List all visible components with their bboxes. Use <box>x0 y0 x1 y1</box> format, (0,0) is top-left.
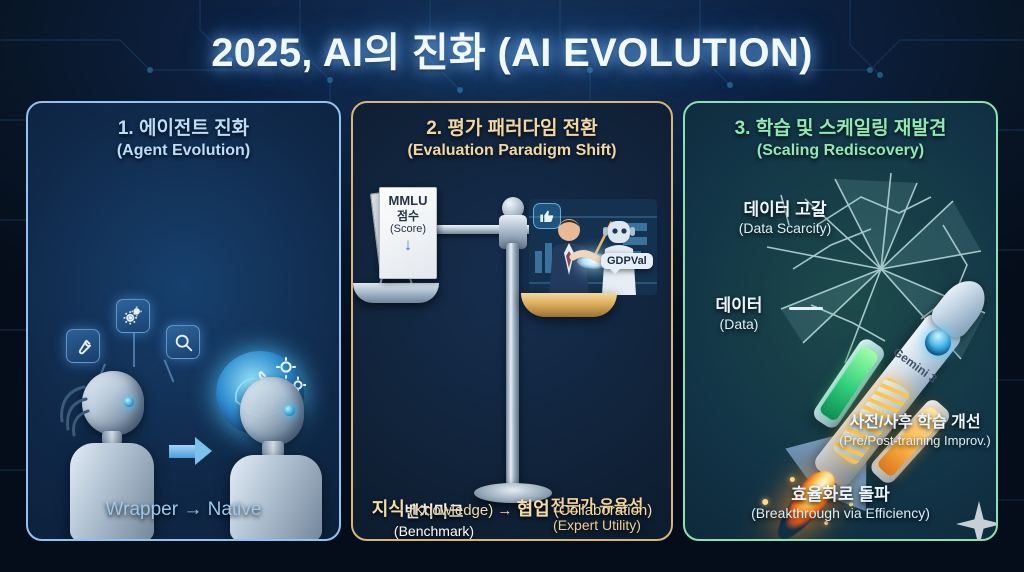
gears-icon <box>116 299 150 333</box>
wrench-icon <box>66 329 100 363</box>
paper-line-mmlu: MMLU <box>389 193 428 209</box>
evolution-arrow-icon <box>169 437 212 465</box>
panel-1-heading-ko: 1. 에이전트 진화 <box>28 117 339 141</box>
label-data-scarcity: 데이터 고갈 (Data Scarcity) <box>705 199 865 238</box>
panel-1-heading: 1. 에이전트 진화 (Agent Evolution) <box>28 117 339 162</box>
label-data-scarcity-en: (Data Scarcity) <box>705 220 865 238</box>
panel-agent-evolution: 1. 에이전트 진화 (Agent Evolution) <box>26 101 341 541</box>
thumbs-up-icon <box>533 203 561 229</box>
footer-arrow-icon: → <box>497 502 512 519</box>
label-pre-post-training-en: (Pre/Post-training Improv.) <box>827 433 998 449</box>
panel-3-footer-ko: 효율화로 돌파 <box>685 480 996 505</box>
paper-line-score-ko: 점수 <box>397 209 419 223</box>
panel-2-footer: 지식 (Knowledge) → 협업 (Collaboration) <box>353 495 671 521</box>
flame-spark <box>823 520 829 526</box>
label-data-scarcity-ko: 데이터 고갈 <box>705 199 865 220</box>
page-title: 2025, AI의 진화 (AI EVOLUTION) <box>211 20 813 78</box>
scale-pan-left <box>353 283 439 303</box>
footer-collaboration-ko: 협업 <box>517 499 550 519</box>
panel-2-heading-ko: 2. 평가 패러다임 전환 <box>353 117 671 141</box>
panel-scaling-rediscovery: 3. 학습 및 스케일링 재발견 (Scaling Rediscovery) <box>683 101 998 541</box>
scale-pan-right <box>521 293 617 317</box>
gdpval-badge: GDPVal <box>601 253 653 269</box>
label-pre-post-training: 사전/사후 학습 개선 (Pre/Post-training Improv.) <box>827 413 998 449</box>
label-pre-post-training-ko: 사전/사후 학습 개선 <box>827 413 998 433</box>
panel-1-heading-en: (Agent Evolution) <box>28 141 339 162</box>
label-benchmark-en: (Benchmark) <box>359 523 509 541</box>
panel-1-footer: Wrapper → Native <box>28 499 339 521</box>
panel-evaluation-paradigm-shift: 2. 평가 패러다임 전환 (Evaluation Paradigm Shift… <box>351 101 673 541</box>
panel-3-heading: 3. 학습 및 스케일링 재발견 (Scaling Rediscovery) <box>685 117 996 162</box>
label-data-en: (Data) <box>683 316 795 334</box>
magnifier-icon <box>166 325 200 359</box>
down-arrow-icon: ↓ <box>404 237 413 252</box>
paper-mmlu-score: MMLU 점수 (Score) ↓ <box>379 187 437 279</box>
scale-column <box>506 243 519 493</box>
footer-knowledge-en: (Knowledge) <box>409 502 493 519</box>
label-data-ko: 데이터 <box>683 295 795 316</box>
title-bar: 2025, AI의 진화 (AI EVOLUTION) <box>0 18 1024 80</box>
panel-2-heading-en: (Evaluation Paradigm Shift) <box>353 141 671 162</box>
panel-3-heading-en: (Scaling Rediscovery) <box>685 141 996 162</box>
panel-3-heading-ko: 3. 학습 및 스케일링 재발견 <box>685 117 996 141</box>
footer-collaboration-en: (Collaboration) <box>554 502 652 519</box>
handshake-scene <box>529 199 657 295</box>
label-data: 데이터 (Data) <box>683 295 795 334</box>
data-leader-line <box>789 307 823 310</box>
panel-3-footer-en: (Breakthrough via Efficiency) <box>685 505 996 521</box>
chip-connector-2 <box>133 333 135 367</box>
panel-3-footer: 효율화로 돌파 (Breakthrough via Efficiency) <box>685 480 996 521</box>
footer-knowledge-ko: 지식 <box>372 499 405 519</box>
panel-2-heading: 2. 평가 패러다임 전환 (Evaluation Paradigm Shift… <box>353 117 671 162</box>
